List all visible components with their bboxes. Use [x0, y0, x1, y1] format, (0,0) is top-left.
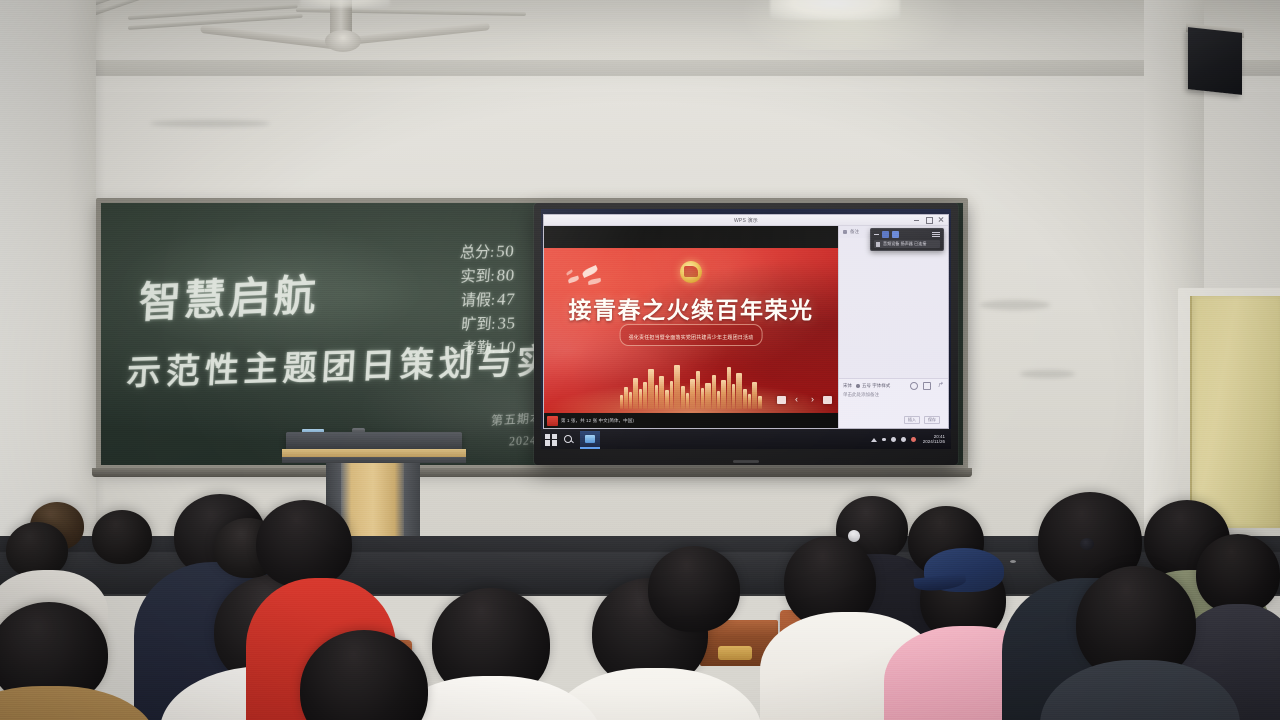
font-size-label[interactable]: 五号 字体样式 — [856, 383, 890, 389]
slide-stage[interactable]: 接青春之火续百年荣光 强化责任担当暨全面落实党团共建青少年主题团日活动 — [544, 226, 838, 428]
classroom-photo-scene: 智慧启航 示范性主题团日策划与实施 第五期本科团支部 2024年1月 总分: 5… — [0, 0, 1280, 720]
ceiling-beam — [90, 60, 1280, 76]
stage-letterbox-top — [544, 226, 838, 248]
slide-status-bar: 第 1 张，共 12 张 中文(简体，中国) — [544, 413, 838, 428]
play-slideshow-icon[interactable] — [823, 396, 832, 404]
slide-subtitle: 强化责任担当暨全面落实党团共建青少年主题团日活动 — [629, 335, 754, 341]
popup-chip-icon — [892, 231, 899, 238]
slide-grid-icon[interactable] — [777, 396, 786, 404]
flat-panel-display[interactable]: WPS 演示 — [534, 203, 958, 465]
save-button[interactable]: 保存 — [924, 416, 940, 424]
font-size-text: 五号 字体样式 — [862, 383, 890, 389]
notes-input[interactable]: 单击此处添加备注 — [843, 392, 944, 414]
stat-label: 旷到: — [461, 313, 497, 335]
stat-row: 请假: 47 — [460, 289, 516, 311]
ceiling-light-icon — [300, 0, 390, 8]
network-icon[interactable] — [891, 437, 896, 442]
start-button-icon[interactable] — [545, 434, 557, 446]
youth-league-emblem-icon — [680, 261, 702, 283]
stat-row: 旷到: 35 — [461, 313, 517, 335]
slide-canvas[interactable]: 接青春之火续百年荣光 强化责任担当暨全面落实党团共建青少年主题团日活动 — [544, 248, 838, 413]
wall-scuff — [1020, 370, 1075, 378]
popup-header-row — [874, 231, 940, 238]
stat-value: 35 — [497, 314, 517, 334]
desk-contents — [718, 646, 752, 660]
blackboard-attendance-stats: 总分: 50 实到: 80 请假: 47 旷到: 35 考勤: 10 — [460, 241, 516, 359]
popup-dash-icon — [874, 234, 879, 235]
lectern-wood-trim — [282, 449, 466, 457]
popup-item-row[interactable]: 音频设备 扬声器 已连接 — [874, 240, 940, 248]
app-badge-icon — [547, 416, 558, 426]
dove-icon — [566, 266, 610, 292]
student-head — [1196, 534, 1280, 614]
student-head — [256, 500, 352, 588]
notes-icon — [843, 230, 847, 234]
stat-value: 10 — [497, 338, 517, 358]
close-icon[interactable] — [938, 217, 943, 222]
student-head — [648, 546, 740, 632]
font-dot-icon — [856, 384, 860, 388]
slide-subtitle-box: 强化责任担当暨全面落实党团共建青少年主题团日活动 — [620, 324, 763, 346]
slide-title: 接青春之火续百年荣光 — [544, 291, 838, 325]
blackboard-heading: 智慧启航 — [137, 261, 321, 330]
search-icon[interactable] — [563, 434, 574, 445]
stat-value: 47 — [496, 290, 516, 310]
insert-button[interactable]: 插入 — [904, 416, 920, 424]
save-icon[interactable] — [923, 382, 931, 390]
lectern-top — [286, 432, 462, 450]
wall-speaker-icon — [1188, 27, 1242, 95]
notes-side-pane[interactable]: 备注 音频 — [838, 226, 948, 428]
window-titlebar[interactable]: WPS 演示 — [544, 215, 948, 226]
stat-row: 考勤: 10 — [461, 337, 517, 359]
prev-slide-icon[interactable]: ‹ — [791, 394, 802, 405]
tray-icon[interactable] — [882, 438, 886, 442]
stat-label: 实到: — [460, 265, 496, 287]
student-head — [92, 510, 152, 564]
compose-actions[interactable]: ↱ — [910, 382, 944, 390]
display-brand-logo — [733, 460, 759, 463]
notes-compose-area[interactable]: 宋体 五号 字体样式 ↱ — [839, 378, 948, 428]
stat-label: 考勤: — [461, 337, 497, 359]
taskbar-app-icon[interactable] — [580, 431, 600, 449]
wall-scuff — [150, 120, 270, 127]
compose-toolbar[interactable]: 宋体 五号 字体样式 ↱ — [843, 382, 944, 390]
system-tray[interactable]: 20:41 2024/11/26 — [871, 435, 947, 444]
now-playing-popup[interactable]: 音频设备 扬声器 已连接 — [870, 228, 944, 251]
wall-scuff — [980, 300, 1050, 310]
presentation-window[interactable]: WPS 演示 — [543, 214, 949, 429]
slide-navigation[interactable]: ‹ › — [777, 394, 832, 405]
volume-icon[interactable] — [901, 437, 906, 442]
ceiling-fan-hub — [325, 30, 361, 52]
window-body: 接青春之火续百年荣光 强化责任担当暨全面落实党团共建青少年主题团日活动 — [544, 226, 948, 428]
student-body — [0, 686, 156, 720]
window-controls[interactable] — [914, 217, 943, 222]
clock-date: 2024/11/26 — [923, 440, 945, 445]
taskbar-clock[interactable]: 20:41 2024/11/26 — [923, 435, 945, 444]
font-family-label[interactable]: 宋体 — [843, 383, 852, 389]
popup-item-text: 音频设备 扬声器 已连接 — [883, 241, 926, 247]
windows-taskbar[interactable]: 20:41 2024/11/26 — [541, 429, 951, 449]
slide-status-text: 第 1 张，共 12 张 中文(简体，中国) — [561, 418, 634, 424]
next-slide-icon[interactable]: › — [807, 394, 818, 405]
stat-label: 总分: — [459, 241, 495, 263]
hair-clip-icon — [1080, 538, 1094, 550]
compose-send-row[interactable]: 插入 保存 — [843, 414, 944, 426]
minimize-icon[interactable] — [914, 217, 919, 222]
popup-chip-icon — [882, 231, 889, 238]
display-screen[interactable]: WPS 演示 — [541, 209, 951, 449]
window-title: WPS 演示 — [734, 217, 758, 224]
stat-value: 50 — [495, 242, 515, 262]
notes-body[interactable] — [839, 238, 948, 378]
send-icon[interactable]: ↱ — [936, 382, 944, 390]
insert-icon[interactable] — [910, 382, 918, 390]
stat-label: 请假: — [460, 289, 496, 311]
show-hidden-icons-icon[interactable] — [871, 438, 877, 442]
notification-icon[interactable] — [911, 437, 916, 442]
student-audience — [0, 470, 1280, 720]
speaker-icon — [876, 242, 880, 247]
windows-desktop: WPS 演示 — [541, 209, 951, 449]
stat-row: 总分: 50 — [459, 241, 515, 263]
stat-value: 80 — [496, 266, 516, 286]
ceiling-light-icon — [770, 0, 900, 20]
maximize-icon[interactable] — [926, 217, 931, 222]
menu-icon[interactable] — [932, 232, 940, 238]
side-pane-header-text: 备注 — [850, 229, 859, 235]
stat-row: 实到: 80 — [460, 265, 516, 287]
